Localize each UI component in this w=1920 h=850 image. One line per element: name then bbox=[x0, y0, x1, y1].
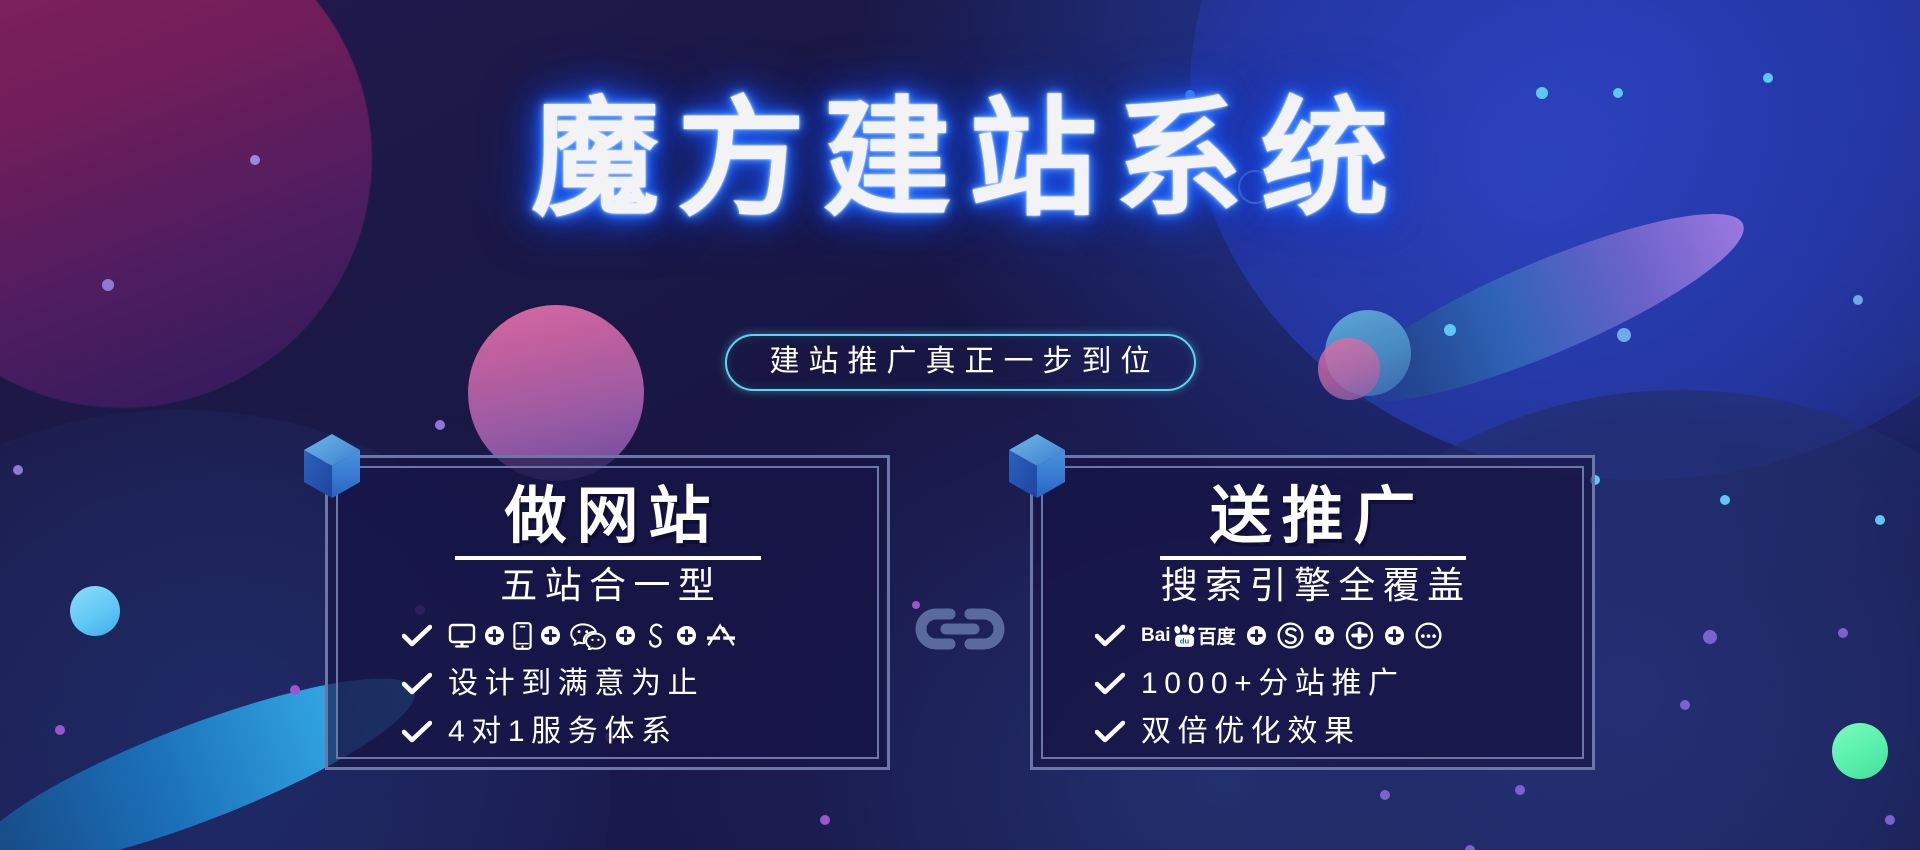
platform-icon-strip bbox=[448, 622, 737, 650]
baidu-logo: Bai du 百度 bbox=[1141, 622, 1236, 649]
check-icon bbox=[402, 672, 432, 696]
panel-left-subtitle: 五站合一型 bbox=[493, 567, 722, 606]
monitor-icon bbox=[448, 623, 476, 649]
panel-make-website[interactable]: 做网站 五站合一型 bbox=[325, 455, 890, 770]
search-engine-icon-strip: Bai du 百度 bbox=[1141, 621, 1442, 650]
app-store-icon bbox=[705, 622, 737, 650]
feature-label: 4对1服务体系 bbox=[448, 717, 678, 747]
star-dot bbox=[102, 279, 114, 291]
star-dot bbox=[1465, 845, 1475, 850]
plus-icon bbox=[615, 625, 636, 646]
check-icon bbox=[1095, 720, 1125, 744]
feature-panels: 做网站 五站合一型 bbox=[0, 455, 1920, 770]
chain-link-icon bbox=[912, 601, 1008, 662]
panel-right-subtitle: 搜索引擎全覆盖 bbox=[1153, 567, 1471, 606]
star-dot bbox=[1380, 790, 1390, 800]
panel-free-promotion[interactable]: 送推广 搜索引擎全覆盖 Bai bbox=[1030, 455, 1595, 770]
check-icon bbox=[402, 720, 432, 744]
baidu-du-text: du bbox=[1179, 637, 1189, 646]
feature-row-platforms bbox=[402, 615, 877, 657]
star-dot bbox=[435, 420, 445, 430]
page-title: 魔方建站系统 bbox=[0, 96, 1920, 224]
banner-stage: 魔方建站系统 建站推广真正一步到位 bbox=[0, 0, 1920, 850]
star-dot bbox=[820, 815, 830, 825]
star-dot bbox=[1853, 295, 1863, 305]
feature-row-double-effect: 双倍优化效果 bbox=[1095, 711, 1582, 753]
check-icon bbox=[1095, 672, 1125, 696]
check-icon bbox=[1095, 624, 1125, 648]
plus-icon bbox=[484, 625, 505, 646]
panel-slot-right: 送推广 搜索引擎全覆盖 Bai bbox=[1030, 455, 1595, 770]
subtitle-pill: 建站推广真正一步到位 bbox=[725, 334, 1196, 391]
feature-row-service: 4对1服务体系 bbox=[402, 711, 877, 753]
feature-label: 双倍优化效果 bbox=[1141, 717, 1361, 747]
star-dot bbox=[1515, 785, 1525, 795]
sogou-icon bbox=[1277, 622, 1304, 649]
panel-right-inner: 送推广 搜索引擎全覆盖 Bai bbox=[1041, 466, 1584, 759]
feature-row-search-engines: Bai du 百度 bbox=[1095, 615, 1582, 657]
panel-left-feature-list: 设计到满意为止 4对1服务体系 bbox=[338, 615, 877, 753]
panel-right-divider bbox=[1160, 556, 1466, 560]
cube-icon bbox=[300, 432, 364, 502]
panel-left-divider bbox=[455, 556, 761, 560]
star-dot bbox=[1763, 73, 1773, 83]
panel-left-inner: 做网站 五站合一型 bbox=[336, 466, 879, 759]
plus-icon bbox=[1314, 625, 1335, 646]
panel-right-title: 送推广 bbox=[1200, 485, 1426, 547]
feature-label: 1000+分站推广 bbox=[1141, 669, 1405, 699]
check-icon bbox=[402, 624, 432, 648]
baidu-paw-icon: du bbox=[1171, 624, 1198, 648]
blue-glow-top-right bbox=[1190, 0, 1920, 480]
mobile-phone-icon bbox=[513, 622, 532, 650]
cube-icon bbox=[1005, 432, 1069, 502]
360-search-icon bbox=[1345, 621, 1374, 650]
baidu-cn-text: 百度 bbox=[1198, 622, 1236, 649]
mini-program-icon bbox=[644, 622, 668, 650]
panel-right-feature-list: Bai du 百度 bbox=[1043, 615, 1582, 753]
feature-row-substations: 1000+分站推广 bbox=[1095, 663, 1582, 705]
panel-connector bbox=[890, 601, 1030, 662]
plus-icon bbox=[676, 625, 697, 646]
feature-row-design: 设计到满意为止 bbox=[402, 663, 877, 705]
star-dot bbox=[1885, 815, 1895, 825]
plus-icon bbox=[540, 625, 561, 646]
subtitle-pill-wrap: 建站推广真正一步到位 bbox=[0, 334, 1920, 391]
panel-slot-left: 做网站 五站合一型 bbox=[325, 455, 890, 770]
wechat-icon bbox=[569, 622, 607, 650]
baidu-latin-text: Bai bbox=[1141, 625, 1171, 647]
feature-label: 设计到满意为止 bbox=[448, 669, 704, 699]
plus-icon bbox=[1384, 625, 1405, 646]
more-dots-icon bbox=[1415, 622, 1442, 649]
panel-left-title: 做网站 bbox=[495, 485, 721, 547]
plus-icon bbox=[1246, 625, 1267, 646]
